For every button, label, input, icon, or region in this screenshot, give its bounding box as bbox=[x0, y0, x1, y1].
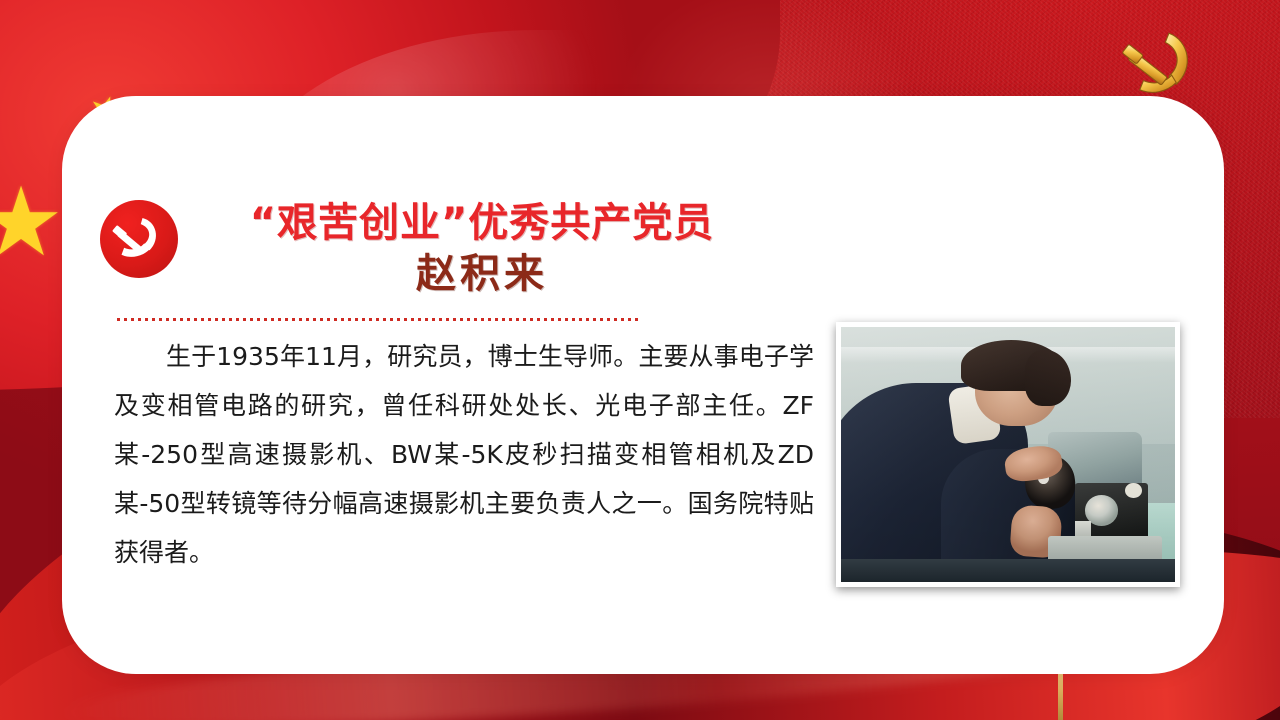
biography-text: 生于1935年11月，研究员，博士生导师。主要从事电子学及变相管电路的研究，曾任… bbox=[114, 332, 814, 577]
title-block: “艰苦创业”优秀共产党员 赵积来 bbox=[202, 200, 762, 299]
slide-canvas: ★ ★ ★ ★ ★ bbox=[0, 0, 1280, 720]
content-card: “艰苦创业”优秀共产党员 赵积来 生于1935年11月，研究员，博士生导师。主要… bbox=[62, 96, 1224, 674]
portrait-photo bbox=[836, 322, 1180, 587]
dotted-divider bbox=[117, 318, 642, 321]
photo-tone-overlay bbox=[841, 327, 1175, 582]
person-name: 赵积来 bbox=[202, 249, 762, 299]
flag-star-large: ★ bbox=[0, 175, 64, 271]
party-emblem-badge bbox=[100, 200, 178, 278]
page-title: “艰苦创业”优秀共产党员 bbox=[202, 200, 762, 247]
photo-image bbox=[841, 327, 1175, 582]
